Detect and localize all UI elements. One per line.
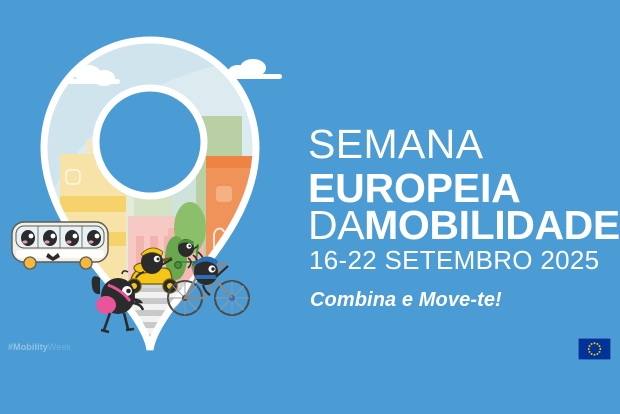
hashtag-strong: #Mobility: [8, 342, 48, 352]
eu-flag-icon: [578, 338, 611, 360]
hashtag-mobility-week: #MobilityWeek: [8, 342, 71, 352]
walker-leg-back: [104, 313, 110, 330]
headline-da: DA: [308, 202, 364, 248]
cyclist-band: [195, 275, 217, 279]
mobility-week-poster: SEMANA EUROPEIA DAMOBILIDADE 16-22 SETEM…: [0, 0, 620, 414]
bus-wheel-front: [24, 257, 36, 269]
bus-wheel-rear: [80, 257, 92, 269]
tagline: Combina e Move-te!: [310, 290, 502, 310]
headline-block: SEMANA EUROPEIA DAMOBILIDADE 16-22 SETEM…: [305, 0, 620, 414]
headline-line-da-mobilidade: DAMOBILIDADE: [308, 205, 620, 246]
bird-tail: [92, 276, 100, 294]
cloud-right: [228, 59, 282, 79]
walker-leg-front: [124, 313, 128, 329]
pin-hole: [96, 88, 204, 196]
headline-line-semana: SEMANA: [308, 124, 484, 165]
pink-bag: [96, 296, 116, 314]
hashtag-weak: Week: [48, 342, 71, 352]
window-orange-1: [216, 186, 232, 202]
building-band-1: [60, 196, 126, 212]
event-date: 16-22 SETEMBRO 2025: [309, 247, 599, 273]
bus-with-passengers: [12, 222, 108, 269]
headline-mobilidade: MOBILIDADE: [364, 202, 620, 248]
